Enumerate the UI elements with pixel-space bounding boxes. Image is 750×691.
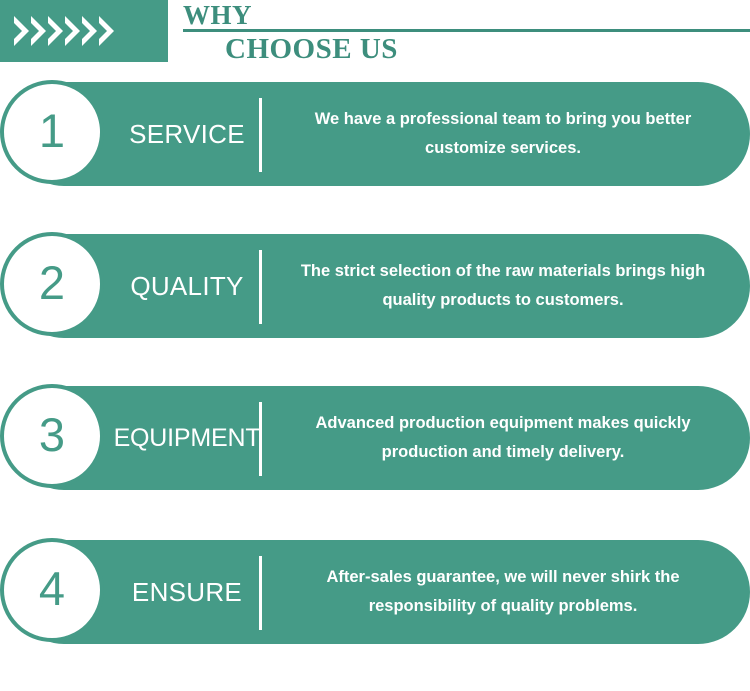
- page-title-group: WHY CHOOSE US: [183, 0, 750, 70]
- vertical-divider: [259, 556, 262, 630]
- vertical-divider: [259, 98, 262, 172]
- feature-description: After-sales guarantee, we will never shi…: [280, 540, 726, 644]
- step-number-badge: 3: [0, 384, 104, 488]
- why-choose-us-page: WHY CHOOSE US 1 SERVICE We have a profes…: [0, 0, 750, 691]
- vertical-divider: [259, 402, 262, 476]
- chevron-right-icon: [14, 16, 29, 46]
- feature-card: 4 ENSURE After-sales guarantee, we will …: [12, 540, 750, 644]
- feature-card: 1 SERVICE We have a professional team to…: [12, 82, 750, 186]
- step-number: 4: [39, 565, 65, 615]
- feature-card: 3 EQUIPMENT Advanced production equipmen…: [12, 386, 750, 490]
- feature-description: We have a professional team to bring you…: [280, 82, 726, 186]
- page-title-line-2: CHOOSE US: [225, 32, 398, 66]
- feature-title: QUALITY: [108, 234, 266, 338]
- step-number-badge: 1: [0, 80, 104, 184]
- vertical-divider: [259, 250, 262, 324]
- step-number-badge: 2: [0, 232, 104, 336]
- feature-description: Advanced production equipment makes quic…: [280, 386, 726, 490]
- step-number: 3: [39, 411, 65, 461]
- page-header: WHY CHOOSE US: [0, 0, 750, 70]
- chevron-right-icon: [31, 16, 46, 46]
- step-number: 2: [39, 259, 65, 309]
- chevron-arrows-icon: [14, 9, 164, 53]
- chevron-decoration-panel: [0, 0, 168, 62]
- chevron-right-icon: [82, 16, 97, 46]
- feature-title: ENSURE: [108, 540, 266, 644]
- chevron-right-icon: [65, 16, 80, 46]
- step-number: 1: [39, 107, 65, 157]
- feature-card: 2 QUALITY The strict selection of the ra…: [12, 234, 750, 338]
- feature-title: SERVICE: [108, 82, 266, 186]
- chevron-right-icon: [99, 16, 114, 46]
- page-title-line-1: WHY: [183, 1, 252, 29]
- chevron-right-icon: [48, 16, 63, 46]
- step-number-badge: 4: [0, 538, 104, 642]
- feature-title: EQUIPMENT: [104, 386, 270, 490]
- feature-description: The strict selection of the raw material…: [280, 234, 726, 338]
